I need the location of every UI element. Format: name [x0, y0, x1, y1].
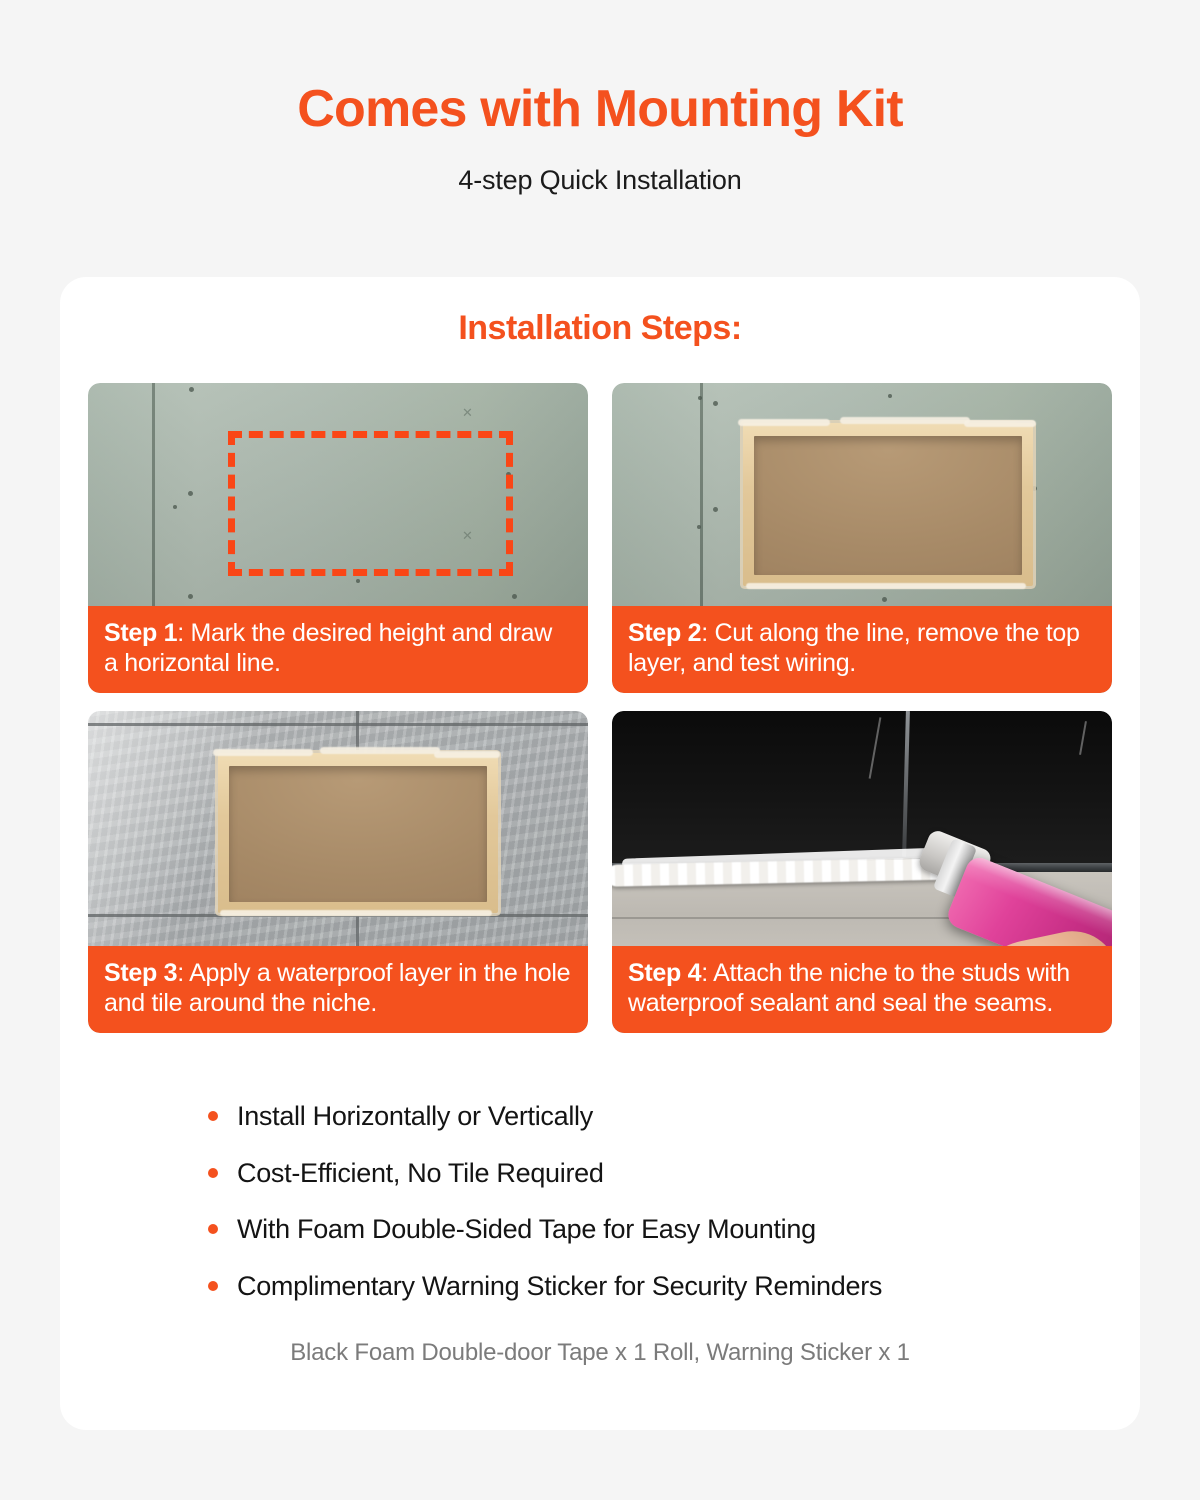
- bullet-dot-icon: [208, 1111, 218, 1121]
- step-label-4: Step 4: [628, 959, 701, 987]
- feature-text: Complimentary Warning Sticker for Securi…: [237, 1269, 882, 1304]
- screw-dot: [188, 491, 193, 496]
- step-label-2: Step 2: [628, 619, 701, 647]
- step-separator-3: :: [177, 959, 189, 987]
- step-image-2: Step 2: Cut along the line, remove the t…: [612, 383, 1112, 693]
- list-item: Install Horizontally or Vertically: [208, 1099, 1088, 1134]
- pencil-mark: ✕: [462, 405, 473, 421]
- page-subtitle: 4-step Quick Installation: [0, 165, 1200, 196]
- niche-cavity: [229, 766, 487, 902]
- niche-cavity: [754, 436, 1022, 575]
- step-label-1: Step 1: [104, 619, 177, 647]
- tile-edge-mortar: [213, 749, 313, 756]
- step-caption-3: Step 3: Apply a waterproof layer in the …: [88, 946, 588, 1034]
- screw-dot: [512, 594, 517, 599]
- screw-dot: [698, 396, 702, 400]
- list-item: Complimentary Warning Sticker for Securi…: [208, 1269, 1088, 1304]
- step-caption-2: Step 2: Cut along the line, remove the t…: [612, 606, 1112, 694]
- drywall-debris: [738, 419, 830, 426]
- tile-grout-line: [88, 723, 588, 726]
- list-item: With Foam Double-Sided Tape for Easy Mou…: [208, 1212, 1088, 1247]
- included-items-note: Black Foam Double-door Tape x 1 Roll, Wa…: [60, 1339, 1140, 1367]
- screw-dot: [882, 597, 887, 602]
- screw-dot: [173, 505, 177, 509]
- screw-dot: [697, 525, 701, 529]
- installation-card: Installation Steps: ✕ ✕: [60, 277, 1140, 1430]
- feature-text: Install Horizontally or Vertically: [237, 1099, 593, 1134]
- step-image-3: Step 3: Apply a waterproof layer in the …: [88, 711, 588, 1033]
- niche-opening: [743, 423, 1033, 586]
- feature-list: Install Horizontally or Vertically Cost-…: [208, 1099, 1088, 1303]
- tile-edge-mortar: [220, 910, 492, 916]
- step-card-4: Step 4: Attach the niche to the studs wi…: [612, 711, 1112, 1033]
- step-label-3: Step 3: [104, 959, 177, 987]
- niche-opening: [218, 753, 498, 913]
- marking-rectangle: [228, 431, 513, 576]
- infographic-page: Comes with Mounting Kit 4-step Quick Ins…: [0, 0, 1200, 1500]
- step-separator-4: :: [701, 959, 713, 987]
- tile-edge-mortar: [434, 751, 500, 758]
- step-card-2: Step 2: Cut along the line, remove the t…: [612, 383, 1112, 693]
- screw-dot: [888, 394, 892, 398]
- list-item: Cost-Efficient, No Tile Required: [208, 1156, 1088, 1191]
- step-image-4: Step 4: Attach the niche to the studs wi…: [612, 711, 1112, 1033]
- screw-dot: [189, 387, 194, 392]
- step-separator-2: :: [701, 619, 714, 647]
- screw-dot: [356, 579, 360, 583]
- page-title: Comes with Mounting Kit: [0, 82, 1200, 137]
- feature-text: Cost-Efficient, No Tile Required: [237, 1156, 604, 1191]
- dark-recess: [612, 711, 1112, 869]
- step-card-1: ✕ ✕ Step 1: Mark the desired height and …: [88, 383, 588, 693]
- screw-dot: [713, 507, 718, 512]
- screw-dot: [188, 594, 193, 599]
- drywall-debris: [746, 583, 1026, 589]
- step-separator-1: :: [177, 619, 190, 647]
- step-caption-1: Step 1: Mark the desired height and draw…: [88, 606, 588, 694]
- bullet-dot-icon: [208, 1224, 218, 1234]
- bullet-dot-icon: [208, 1168, 218, 1178]
- step-card-3: Step 3: Apply a waterproof layer in the …: [88, 711, 588, 1033]
- screw-dot: [713, 401, 718, 406]
- header: Comes with Mounting Kit 4-step Quick Ins…: [0, 0, 1200, 196]
- bullet-dot-icon: [208, 1281, 218, 1291]
- steps-grid: ✕ ✕ Step 1: Mark the desired height and …: [88, 383, 1112, 1033]
- feature-text: With Foam Double-Sided Tape for Easy Mou…: [237, 1212, 816, 1247]
- drywall-debris: [840, 417, 970, 424]
- step-caption-4: Step 4: Attach the niche to the studs wi…: [612, 946, 1112, 1034]
- tile-edge-mortar: [320, 747, 440, 754]
- drywall-debris: [964, 420, 1036, 427]
- card-title: Installation Steps:: [60, 277, 1140, 348]
